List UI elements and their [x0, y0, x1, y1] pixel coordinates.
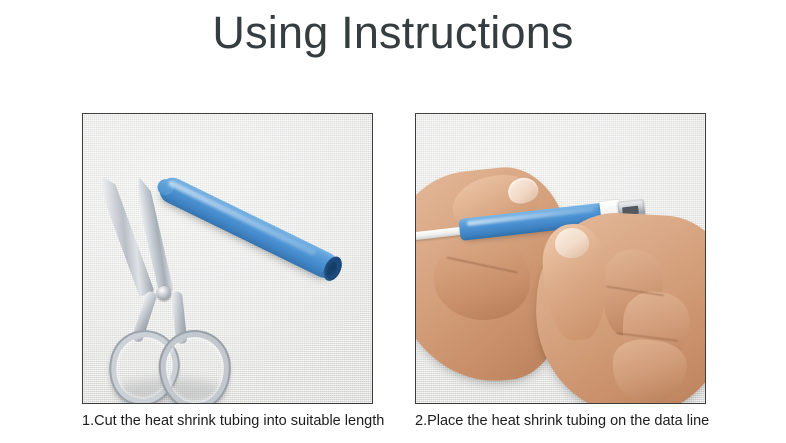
scissors-pivot-screw: [157, 286, 171, 300]
step-2: 2.Place the heat shrink tubing on the da…: [415, 113, 709, 430]
step-2-photo: [415, 113, 706, 404]
step-1-caption: 1.Cut the heat shrink tubing into suitab…: [82, 413, 384, 430]
step-1-photo: [82, 113, 373, 404]
scissors-and-tubing-scene: [83, 114, 372, 403]
hands-and-cable-scene: [416, 114, 705, 403]
step-2-caption: 2.Place the heat shrink tubing on the da…: [415, 413, 709, 430]
left-hand-crease: [417, 113, 479, 122]
step-1: 1.Cut the heat shrink tubing into suitab…: [82, 113, 384, 430]
page-title: Using Instructions: [0, 8, 786, 58]
